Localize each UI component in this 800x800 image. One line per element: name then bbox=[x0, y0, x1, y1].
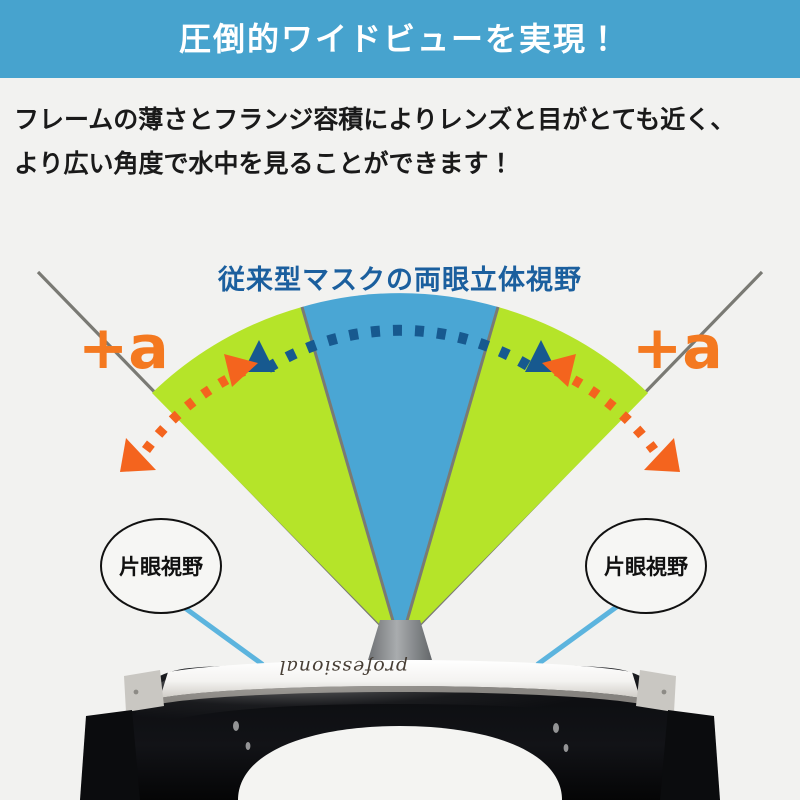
extra-arc-arrow-left-outer bbox=[120, 438, 156, 472]
plus-a-label-left: +a bbox=[78, 318, 169, 378]
dive-mask-photo: professional bbox=[0, 620, 800, 800]
monocular-field-label-left: 片眼視野 bbox=[119, 551, 203, 581]
screw-right-1 bbox=[662, 690, 667, 695]
mask-strap-right bbox=[660, 710, 720, 800]
highlight-3 bbox=[553, 723, 559, 733]
monocular-field-bubble-right: 片眼視野 bbox=[585, 518, 707, 614]
plus-a-label-right: +a bbox=[632, 318, 723, 378]
dive-mask-svg bbox=[0, 620, 800, 800]
mask-buckle-right bbox=[636, 670, 676, 712]
highlight-1 bbox=[233, 721, 239, 731]
mask-strap-left bbox=[80, 710, 140, 800]
highlight-4 bbox=[564, 744, 569, 752]
highlight-2 bbox=[246, 742, 251, 750]
mask-nose-bridge bbox=[368, 620, 432, 660]
screw-left-1 bbox=[134, 690, 139, 695]
monocular-field-label-right: 片眼視野 bbox=[604, 551, 688, 581]
page-root: 圧倒的ワイドビューを実現！ フレームの薄さとフランジ容積によりレンズと目がとても… bbox=[0, 0, 800, 800]
extra-arc-arrow-right-outer bbox=[644, 438, 680, 472]
mask-buckle-left bbox=[124, 670, 164, 712]
mask-brand-text: professional bbox=[238, 656, 408, 678]
binocular-field-title: 従来型マスクの両眼立体視野 bbox=[0, 258, 800, 297]
monocular-field-bubble-left: 片眼視野 bbox=[100, 518, 222, 614]
